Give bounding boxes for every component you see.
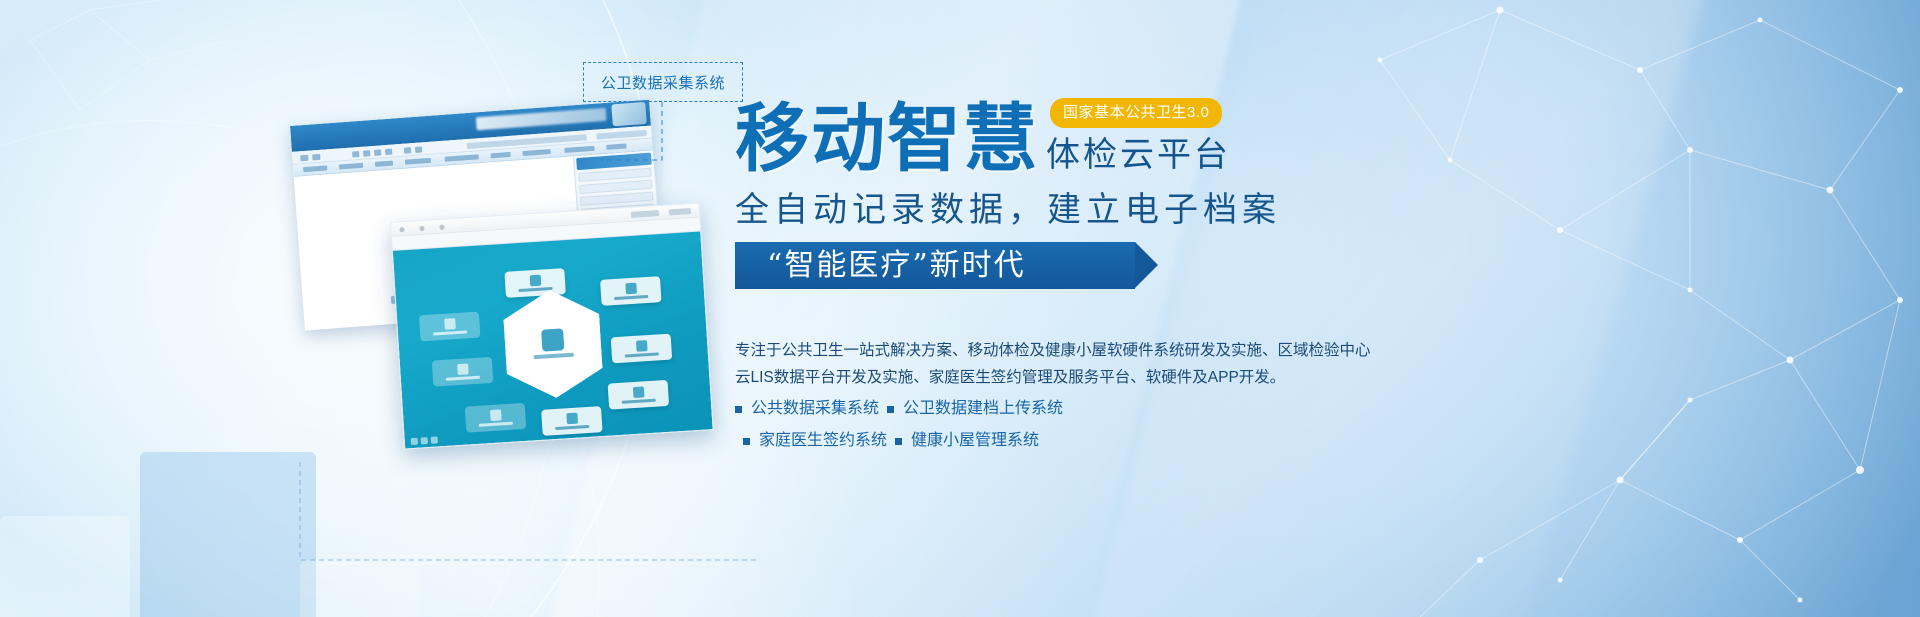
bullet-square-icon [887,406,894,413]
list-item-label: 家庭医生签约系统 [759,433,887,449]
screenshot2-dashboard [393,232,713,449]
headline-tagline: 全自动记录数据，建立电子档案 [735,190,1895,230]
screenshot-health-cloud-platform[interactable] [390,203,714,450]
dashboard-node[interactable] [465,403,527,433]
decorative-square [140,452,316,617]
screenshot1-title-text [476,108,607,130]
product-screenshots [290,126,720,456]
status-badge: 国家基本公共卫生3.0 [1050,98,1222,128]
dashboard-node[interactable] [611,334,673,364]
dashboard-node[interactable] [541,406,603,436]
screenshot1-avatar [611,102,647,126]
bullet-square-icon [743,438,750,445]
headline-secondary: 体检云平台 [1046,138,1231,172]
feature-list: 公共数据采集系统 公卫数据建档上传系统 家庭医生签约系统 健康小屋管理系统 [735,401,1355,463]
description-block: 专注于公共卫生一站式解决方案、移动体检及健康小屋软硬件系统研发及实施、区域检验中… [735,337,1895,391]
marketing-copy: 移动智慧 国家基本公共卫生3.0 体检云平台 全自动记录数据，建立电子档案 “智… [735,108,1895,463]
list-item[interactable]: 公卫数据建档上传系统 [887,401,1063,417]
callout-label: 公卫数据采集系统 [601,72,725,93]
callout-public-health-data-collection[interactable]: 公卫数据采集系统 [583,62,743,102]
ribbon-banner: “智能医疗”新时代 [735,242,1135,289]
headline-row: 移动智慧 国家基本公共卫生3.0 体检云平台 [735,108,1895,170]
ribbon-label: “智能医疗”新时代 [767,251,1026,281]
description-line-1: 专注于公共卫生一站式解决方案、移动体检及健康小屋软硬件系统研发及实施、区域检验中… [735,337,1895,364]
dashboard-node[interactable] [608,380,670,410]
dashboard-node[interactable] [419,312,481,342]
list-item[interactable]: 公共数据采集系统 [735,401,879,417]
promo-banner: 公卫数据采集系统 移动智慧 国家基本公共卫生3.0 体检云平台 全自动记录数据，… [0,0,1920,617]
list-item[interactable]: 家庭医生签约系统 [743,433,887,449]
dashboard-node[interactable] [600,276,662,306]
list-item-label: 健康小屋管理系统 [911,433,1039,449]
decorative-square [300,560,420,617]
screenshot2-footer [411,436,438,445]
bullet-square-icon [735,406,742,413]
list-item[interactable]: 健康小屋管理系统 [895,433,1039,449]
list-item-label: 公共数据采集系统 [751,401,879,417]
decorative-square [0,516,130,617]
description-line-2: 云LIS数据平台开发及实施、家庭医生签约管理及服务平台、软硬件及APP开发。 [735,364,1895,391]
dashboard-node[interactable] [432,357,494,387]
bullet-square-icon [895,438,902,445]
headline-primary: 移动智慧 [735,102,1039,176]
list-item-label: 公卫数据建档上传系统 [903,401,1063,417]
dashboard-hexagon [502,287,605,401]
